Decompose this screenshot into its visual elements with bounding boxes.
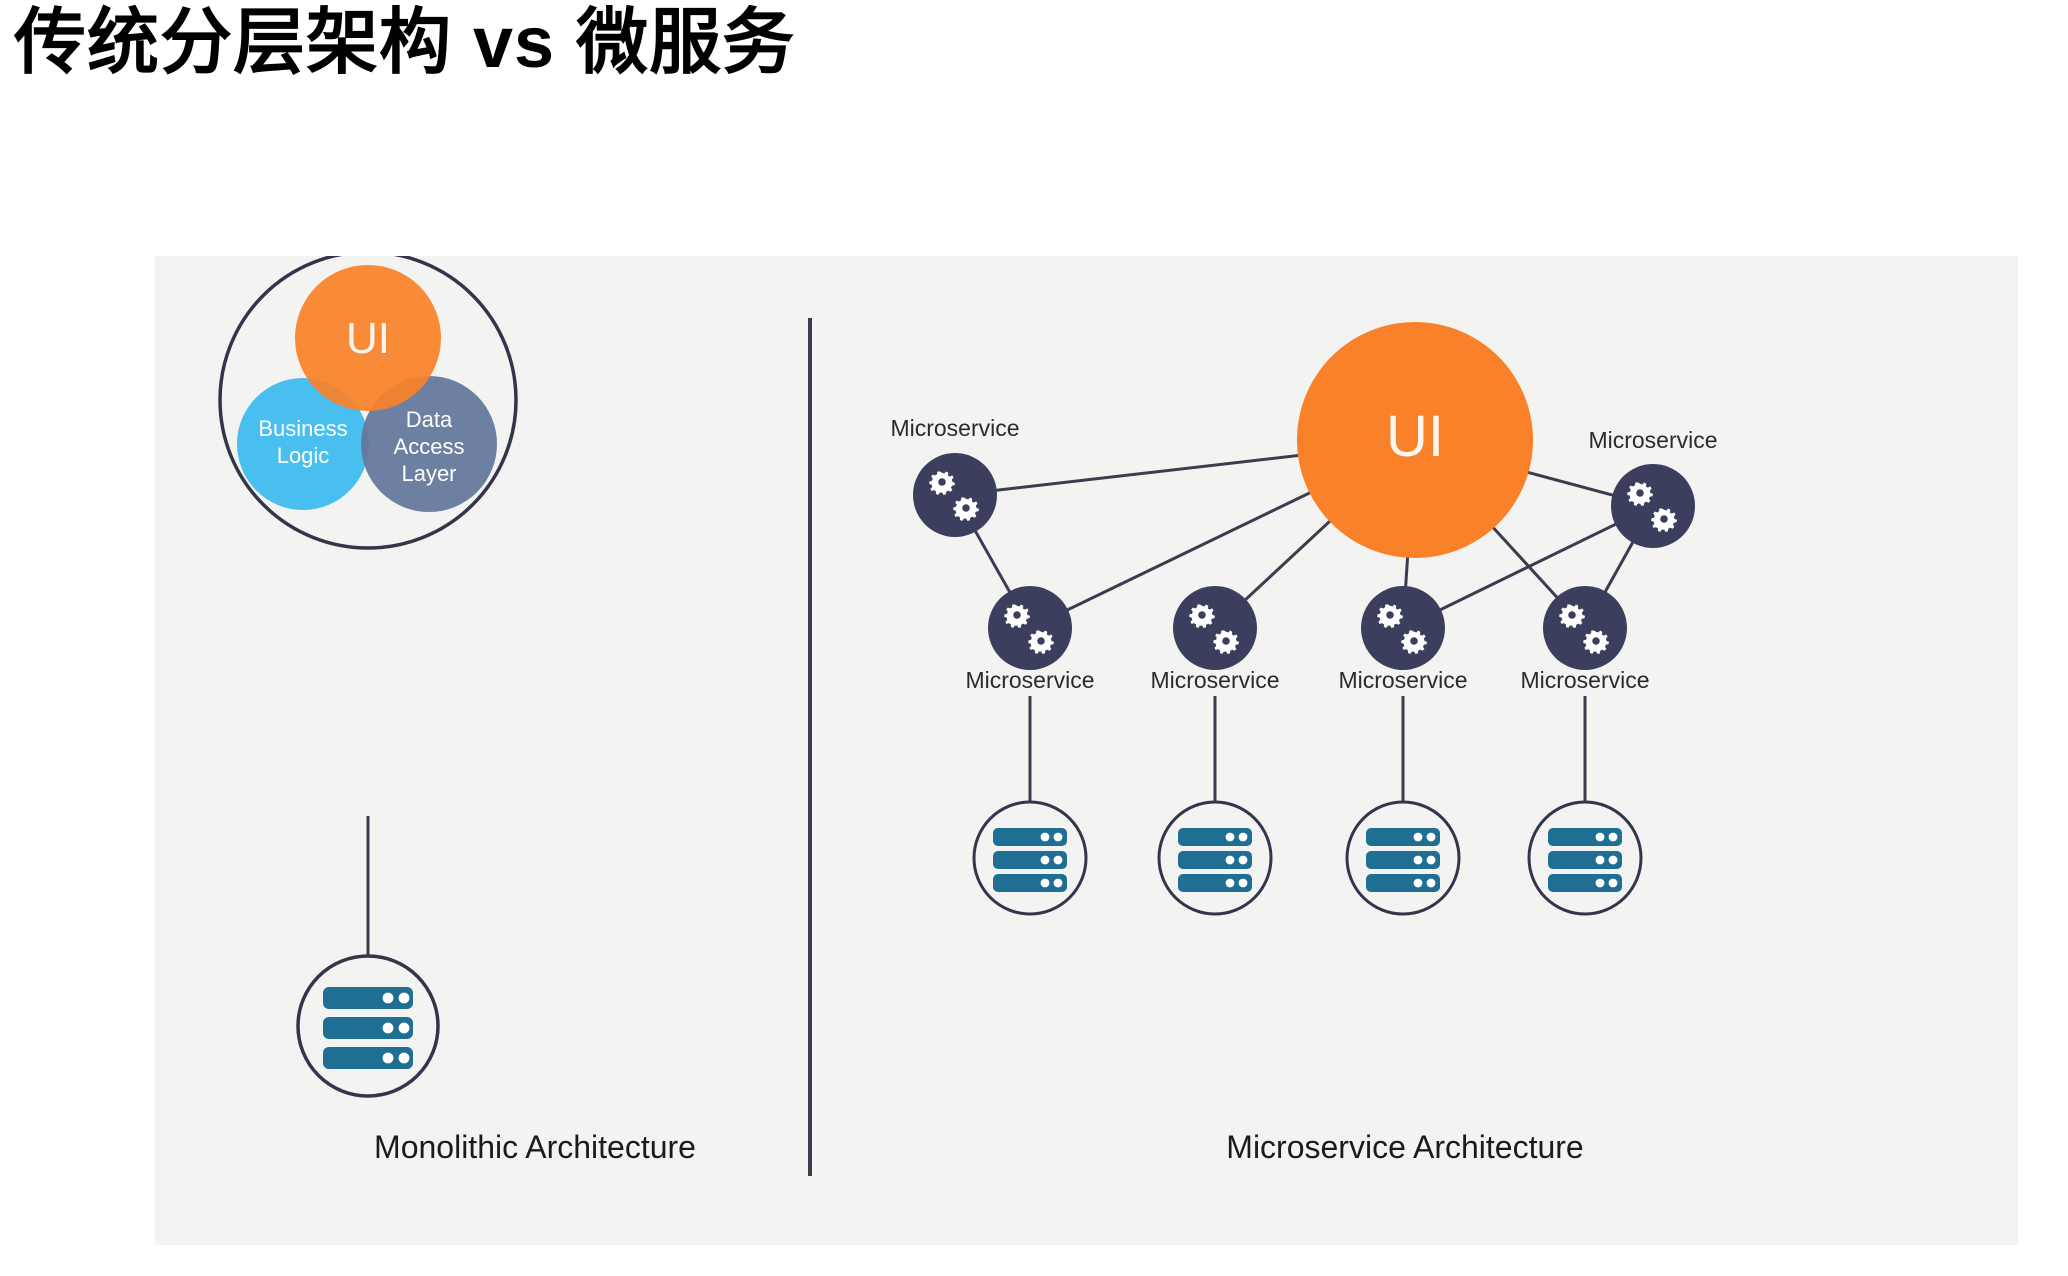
business-logic-label-line1: Business <box>258 416 347 441</box>
database-icon <box>1366 828 1440 892</box>
data-access-label-line3: Layer <box>401 461 456 486</box>
microservice-node-bottom-1[interactable]: Microservice <box>965 586 1094 693</box>
monolithic-architecture-group: UI Business Logic Data Access Layer <box>220 256 516 1096</box>
microservice-circle <box>1543 586 1627 670</box>
microservice-database-4 <box>1529 802 1641 914</box>
microservice-node-top-left[interactable]: Microservice <box>890 415 1019 537</box>
microservice-caption: Microservice Architecture <box>845 1129 1965 1166</box>
microservice-label: Microservice <box>1338 667 1467 693</box>
microservice-db-connectors <box>1030 696 1585 801</box>
microservice-node-top-right[interactable]: Microservice <box>1588 427 1717 548</box>
microservice-node-bottom-3[interactable]: Microservice <box>1338 586 1467 693</box>
data-access-label-line2: Access <box>394 434 465 459</box>
microservice-architecture-group: UI Microservice Microservice <box>890 322 1717 914</box>
data-access-label-line1: Data <box>406 407 453 432</box>
ui-label-microservice: UI <box>1386 404 1444 469</box>
business-logic-label-line2: Logic <box>277 443 330 468</box>
microservice-label: Microservice <box>1520 667 1649 693</box>
database-icon <box>323 987 413 1069</box>
microservice-node-bottom-4[interactable]: Microservice <box>1520 586 1649 693</box>
ui-label-monolith: UI <box>346 314 390 363</box>
microservice-label: Microservice <box>1588 427 1717 453</box>
microservice-database-1 <box>974 802 1086 914</box>
microservice-label: Microservice <box>890 415 1019 441</box>
architecture-diagram: UI Business Logic Data Access Layer <box>155 256 2018 1245</box>
microservice-database-2 <box>1159 802 1271 914</box>
microservice-circle <box>1361 586 1445 670</box>
microservice-circle <box>988 586 1072 670</box>
database-icon <box>1178 828 1252 892</box>
monolithic-caption: Monolithic Architecture <box>225 1129 845 1166</box>
slide-root: 传统分层架构 vs 微服务 <box>0 0 2068 1276</box>
microservice-circle <box>913 453 997 537</box>
architecture-comparison-panel: UI Business Logic Data Access Layer <box>155 256 2018 1245</box>
microservice-circle <box>1173 586 1257 670</box>
microservice-label: Microservice <box>1150 667 1279 693</box>
microservice-label: Microservice <box>965 667 1094 693</box>
page-title: 传统分层架构 vs 微服务 <box>14 2 795 85</box>
monolith-database <box>298 956 438 1096</box>
microservice-circle <box>1611 464 1695 548</box>
database-icon <box>1548 828 1622 892</box>
database-icon <box>993 828 1067 892</box>
microservice-database-3 <box>1347 802 1459 914</box>
microservice-node-bottom-2[interactable]: Microservice <box>1150 586 1279 693</box>
